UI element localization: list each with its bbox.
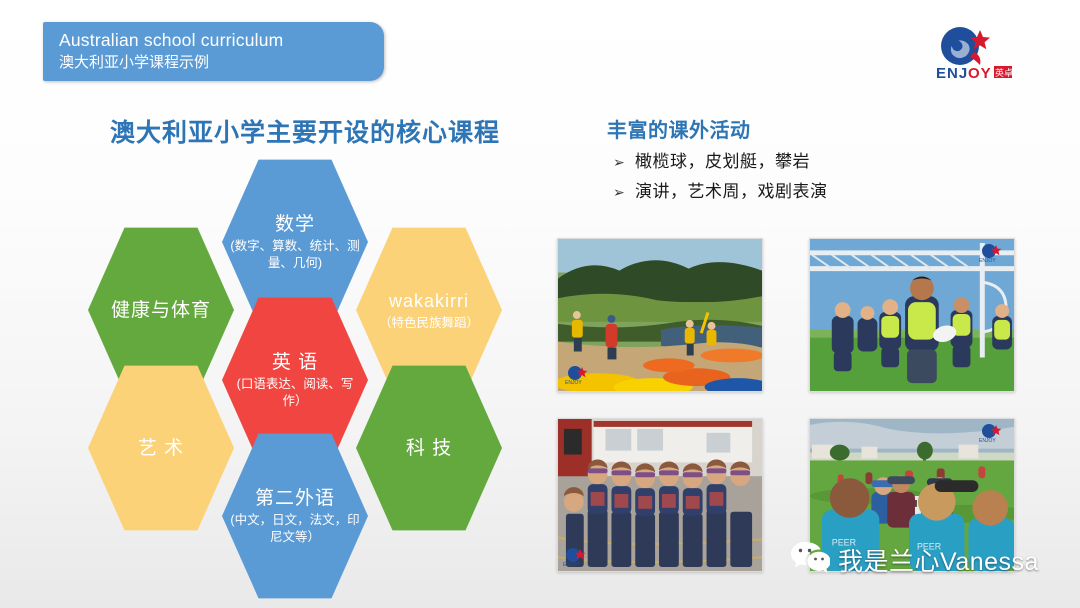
svg-text:英卓: 英卓 — [995, 67, 1013, 79]
enjoy-logo: ENJ OY 英卓 — [910, 22, 1022, 84]
hexagon-english-title: 英 语 — [272, 350, 318, 375]
left-section-heading: 澳大利亚小学主要开设的核心课程 — [110, 113, 500, 149]
photo-watermark-logo: ENJOY — [978, 423, 1010, 443]
banner-title-en: Australian school curriculum — [59, 29, 384, 52]
svg-text:OY: OY — [968, 65, 992, 82]
wechat-icon — [790, 540, 830, 579]
list-item: ➢ 演讲，艺术周，戏剧表演 — [613, 180, 828, 204]
photo-watermark-logo: ENJOY — [978, 243, 1010, 263]
banner-title-cn: 澳大利亚小学课程示例 — [59, 52, 384, 74]
list-item-label: 橄榄球，皮划艇，攀岩 — [635, 150, 810, 174]
hexagon-second-language-title: 第二外语 — [255, 486, 335, 511]
hexagon-english-subtitle: (口语表达、阅读、写作） — [230, 376, 360, 410]
hexagon-technology-title: 科 技 — [406, 436, 452, 461]
curriculum-hexagon-cluster: 数学 (数字、算数、统计、测量、几何) 健康与体育 wakakirri （特色民… — [80, 160, 510, 580]
svg-text:ENJOY: ENJOY — [979, 438, 996, 443]
hexagon-art-title: 艺 术 — [138, 436, 184, 461]
hexagon-second-language-subtitle: (中文，日文，法文，印尼文等） — [230, 512, 360, 546]
photo-kapa-haka: ENJOY — [557, 418, 763, 572]
photo-watermark-logo: ENJOY — [562, 547, 594, 567]
title-banner: Australian school curriculum 澳大利亚小学课程示例 — [43, 22, 384, 81]
hexagon-wakakirri-title: wakakirri — [389, 289, 469, 314]
right-section-heading: 丰富的课外活动 — [607, 114, 751, 143]
hexagon-math-title: 数学 — [275, 212, 315, 237]
svg-text:ENJOY: ENJOY — [563, 562, 580, 567]
arrow-bullet-icon: ➢ — [613, 150, 635, 174]
svg-text:ENJOY: ENJOY — [565, 380, 582, 385]
hexagon-math-subtitle: (数字、算数、统计、测量、几何) — [230, 238, 360, 272]
list-item-label: 演讲，艺术周，戏剧表演 — [635, 180, 828, 204]
hexagon-technology: 科 技 — [356, 364, 502, 532]
list-item: ➢ 橄榄球，皮划艇，攀岩 — [613, 150, 828, 174]
arrow-bullet-icon: ➢ — [613, 180, 635, 204]
activities-list: ➢ 橄榄球，皮划艇，攀岩 ➢ 演讲，艺术周，戏剧表演 — [613, 150, 828, 210]
photo-kayaking: ENJOY — [557, 238, 763, 392]
wechat-watermark-text: 我是兰心Vanessa — [838, 542, 1039, 578]
svg-text:ENJ: ENJ — [936, 65, 968, 82]
hexagon-second-language: 第二外语 (中文，日文，法文，印尼文等） — [222, 432, 368, 600]
wechat-watermark: 我是兰心Vanessa — [790, 540, 1039, 579]
photo-watermark-logo: ENJOY — [564, 365, 596, 385]
hexagon-wakakirri-subtitle: （特色民族舞蹈） — [379, 315, 479, 332]
hexagon-art: 艺 术 — [88, 364, 234, 532]
hexagon-health-title: 健康与体育 — [111, 298, 211, 323]
photo-rugby: ENJOY — [809, 238, 1015, 392]
svg-text:ENJOY: ENJOY — [979, 258, 996, 263]
